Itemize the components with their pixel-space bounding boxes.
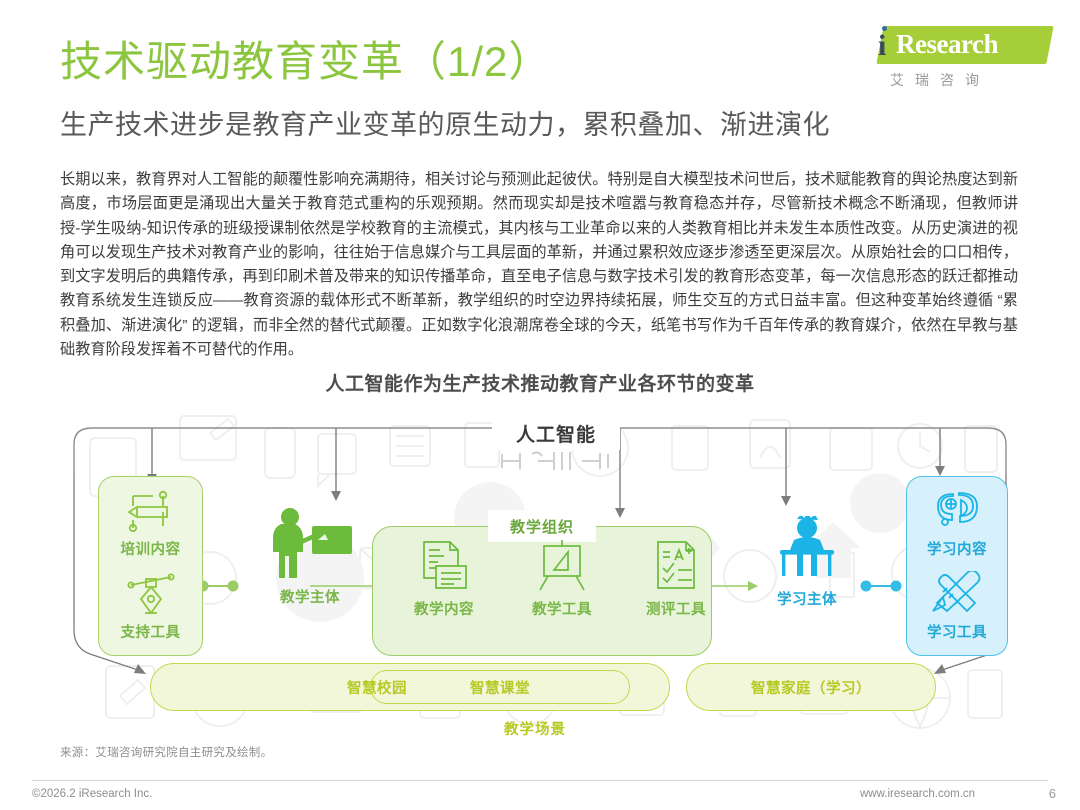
slide-root: 技术驱动教育变革（1/2） 生产技术进步是教育产业变革的原生动力，累积叠加、渐进…	[0, 0, 1080, 810]
logo-mark: i Research	[856, 26, 1052, 66]
checklist-grade-icon	[648, 538, 704, 594]
node-learning-tool[interactable]: 学习工具	[927, 571, 987, 642]
diagram-title: 人工智能作为生产技术推动教育产业各环节的变革	[0, 369, 1080, 396]
easel-board-icon	[534, 538, 590, 594]
logo-chinese-name: 艾瑞咨询	[890, 70, 990, 90]
node-teaching-tool[interactable]: 教学工具	[512, 538, 612, 619]
node-label: 培训内容	[121, 538, 181, 559]
ruler-pencil-icon	[123, 490, 179, 534]
scene-label-home: 智慧家庭（学习）	[751, 677, 871, 698]
node-label: 学习主体	[777, 588, 837, 609]
node-label: 学习工具	[927, 621, 987, 642]
node-learning-subject[interactable]: 学习主体	[752, 516, 862, 609]
footer-website[interactable]: www.iresearch.com.cn	[860, 788, 975, 800]
node-training-content[interactable]: 培训内容	[121, 490, 181, 559]
footer-divider	[32, 780, 1048, 781]
node-learning-content[interactable]: 学习内容	[927, 490, 987, 559]
document-stack-icon	[416, 538, 472, 594]
scene-label-classroom: 智慧课堂	[470, 677, 530, 698]
node-support-tool[interactable]: 支持工具	[121, 573, 181, 642]
ai-driver-tag: 人工智能	[492, 416, 620, 450]
body-paragraph: 长期以来，教育界对人工智能的颠覆性影响充满期待，相关讨论与预测此起彼伏。特别是自…	[60, 168, 1018, 362]
logo-initial: i	[878, 29, 886, 63]
teacher-blackboard-icon	[262, 506, 358, 582]
node-label: 教学工具	[532, 598, 592, 619]
page-title: 技术驱动教育变革（1/2）	[60, 28, 551, 89]
pen-nib-icon	[123, 573, 179, 617]
circuit-doodle-icon	[498, 448, 614, 474]
node-teaching-content[interactable]: 教学内容	[394, 538, 494, 619]
student-desk-icon	[764, 516, 850, 584]
node-label: 学习内容	[927, 538, 987, 559]
diagram-nodes: 人工智能	[60, 398, 1020, 743]
node-label: 测评工具	[646, 598, 706, 619]
group-learning-resources[interactable]: 学习内容 学习工具	[906, 476, 1008, 656]
node-assessment-tool[interactable]: 测评工具	[626, 538, 726, 619]
footer-copyright: ©2026.2 iResearch Inc.	[32, 788, 152, 800]
page-subtitle: 生产技术进步是教育产业变革的原生动力，累积叠加、渐进演化	[60, 103, 830, 142]
scene-smart-home[interactable]: 智慧家庭（学习）	[686, 663, 936, 711]
node-label: 教学主体	[280, 586, 340, 607]
source-note: 来源：艾瑞咨询研究院自主研究及绘制。	[60, 744, 272, 760]
scene-smart-classroom[interactable]: 智慧课堂	[370, 670, 630, 704]
logo-wordmark: Research	[896, 29, 998, 60]
diagram-canvas: 人工智能	[60, 398, 1020, 743]
page-number: 6	[1049, 786, 1056, 801]
pencil-ruler-cross-icon	[929, 571, 985, 617]
brain-book-icon	[929, 490, 985, 534]
node-label: 支持工具	[121, 621, 181, 642]
node-teaching-subject[interactable]: 教学主体	[250, 506, 370, 607]
iresearch-logo: i Research 艾瑞咨询	[856, 26, 1052, 96]
group-teaching-support[interactable]: 培训内容 支持工具	[98, 476, 203, 656]
node-label: 教学内容	[414, 598, 474, 619]
scene-band-label: 教学场景	[504, 718, 566, 739]
